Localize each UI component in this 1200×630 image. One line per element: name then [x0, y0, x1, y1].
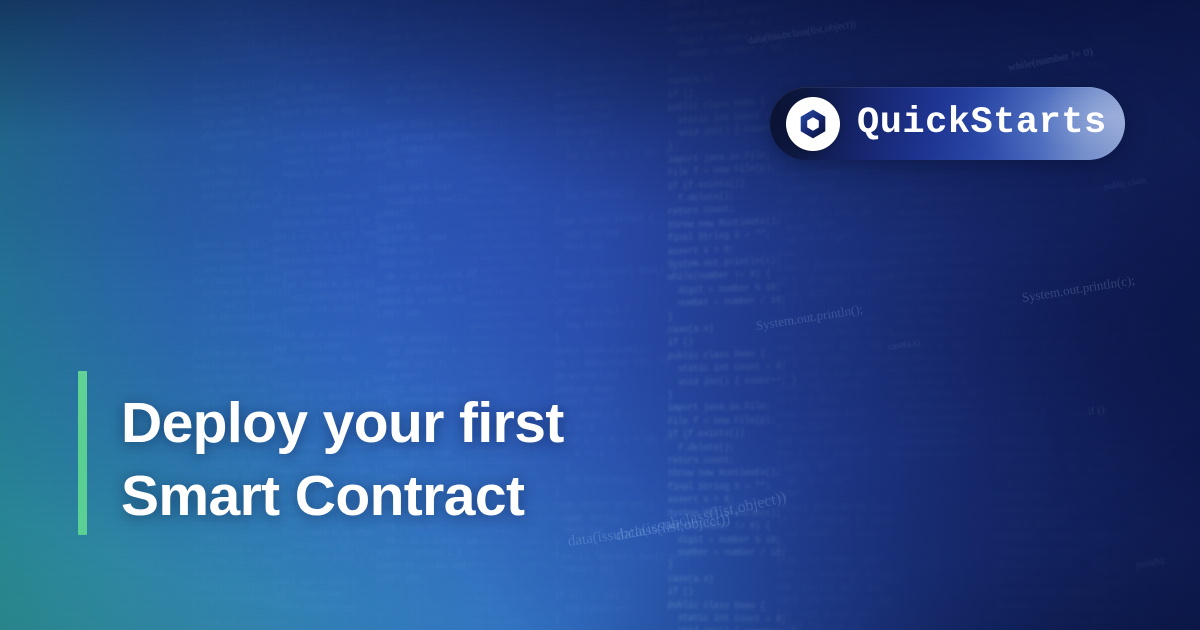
chainlink-hexagon-logo [786, 97, 840, 151]
quickstarts-badge[interactable]: QuickStarts [770, 87, 1125, 160]
green-accent-bar [78, 371, 87, 535]
headline-line-2: Smart Contract [121, 460, 761, 533]
quickstarts-label: QuickStarts [857, 105, 1107, 142]
page-title: Deploy your first Smart Contract [121, 387, 761, 533]
headline-line-1: Deploy your first [121, 387, 761, 460]
quickstarts-banner: def parse(x): if x is None: return [] ou… [0, 0, 1200, 630]
